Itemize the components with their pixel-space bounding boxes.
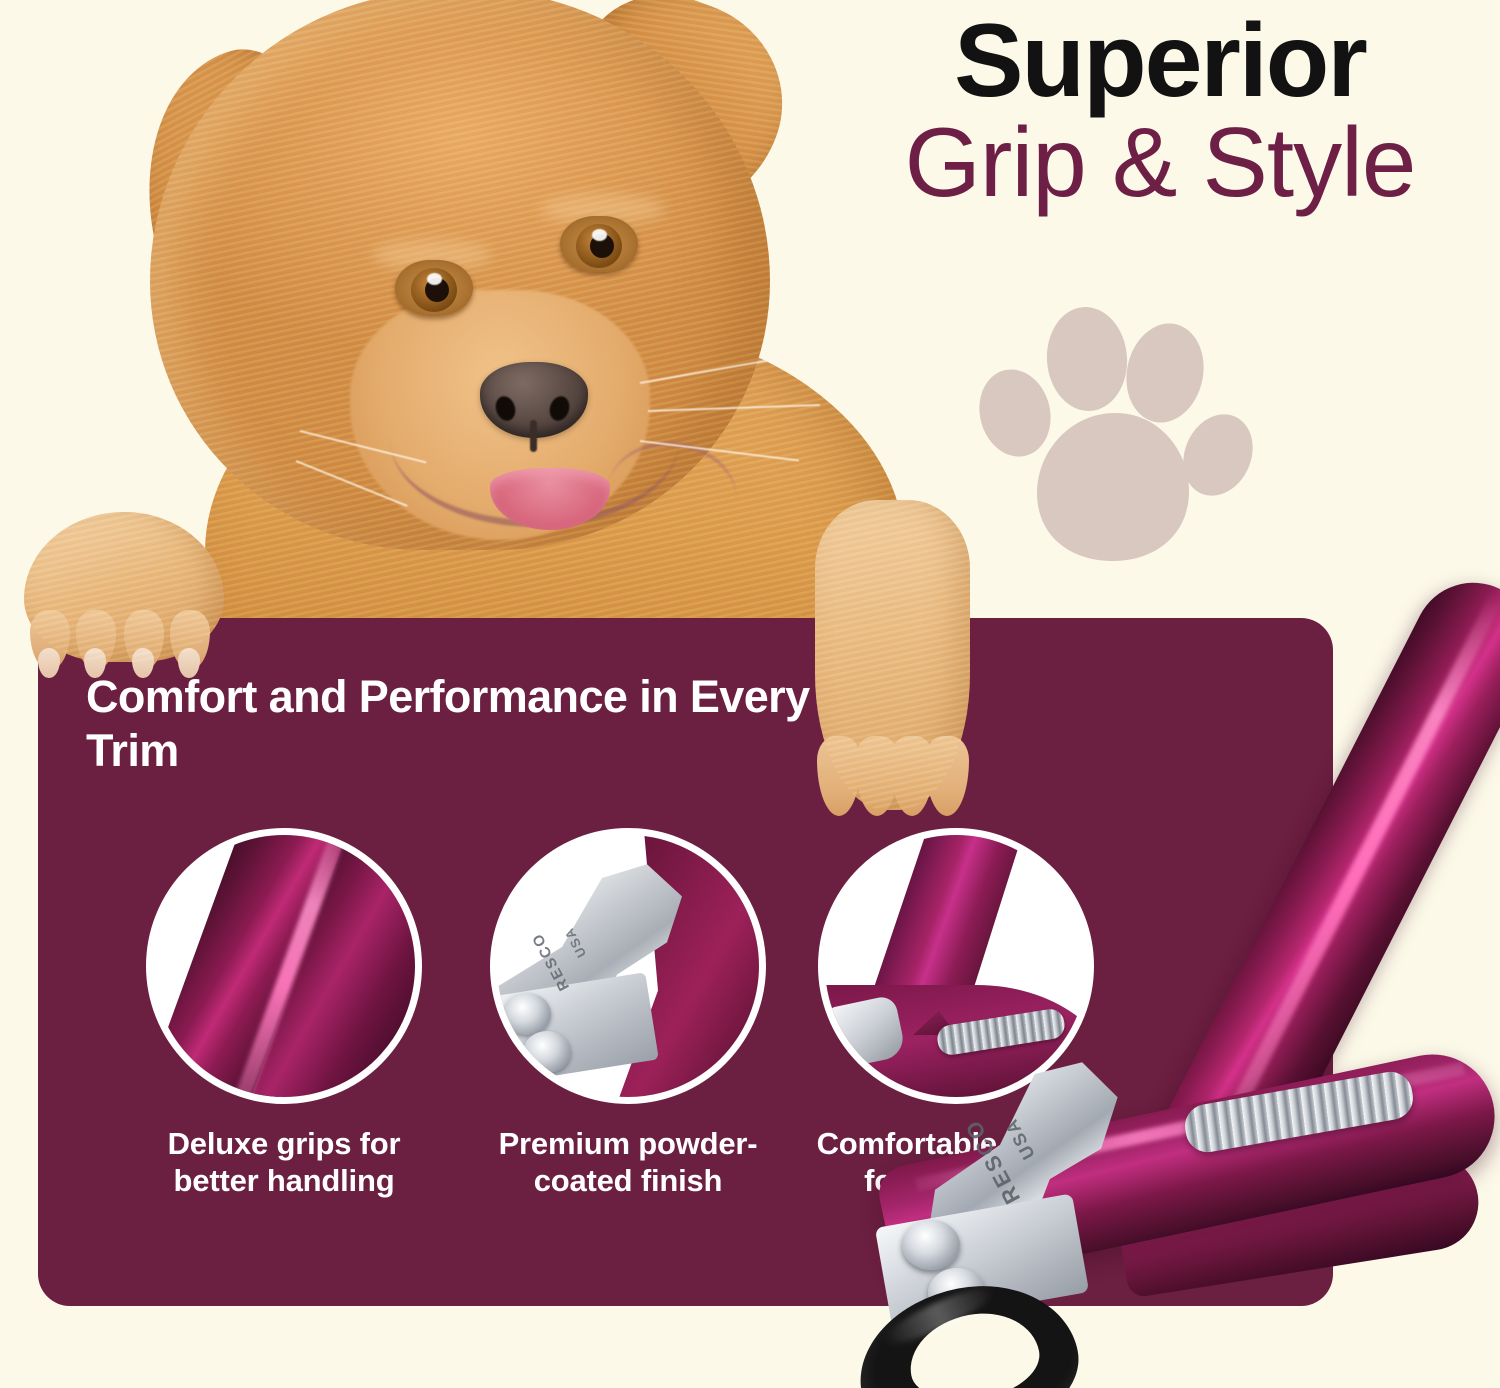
feature-image-blade: RESCO USA <box>490 828 766 1104</box>
product-photo-nail-clipper: RESCO USA <box>820 520 1500 1388</box>
clipper-upper-highlight <box>1219 592 1500 1133</box>
headline-block: Superior Grip & Style <box>830 6 1490 216</box>
nostril-left <box>493 394 519 424</box>
rivet-icon <box>523 1031 571 1073</box>
headline-line-2: Grip & Style <box>830 110 1490 216</box>
dog-eye-right <box>560 216 638 272</box>
product-marketing-image: Superior Grip & Style Comfort and Perfor… <box>0 0 1500 1388</box>
feature-item-2: RESCO USA Premium powder-coated finish <box>478 828 778 1199</box>
feature-caption-2: Premium powder-coated finish <box>478 1126 778 1199</box>
eye-glint <box>592 229 607 241</box>
feature-item-1: Deluxe grips for better handling <box>134 828 434 1199</box>
rivet-icon <box>503 993 551 1035</box>
headline-line-1: Superior <box>830 6 1490 116</box>
feature-image-handle <box>146 828 422 1104</box>
eye-glint <box>427 273 442 285</box>
nostril-right <box>547 394 573 424</box>
feature-caption-1: Deluxe grips for better handling <box>134 1126 434 1199</box>
dog-eye-left <box>395 260 473 316</box>
card-title: Comfort and Performance in Every Trim <box>86 670 846 778</box>
rivet-icon <box>902 1220 960 1270</box>
